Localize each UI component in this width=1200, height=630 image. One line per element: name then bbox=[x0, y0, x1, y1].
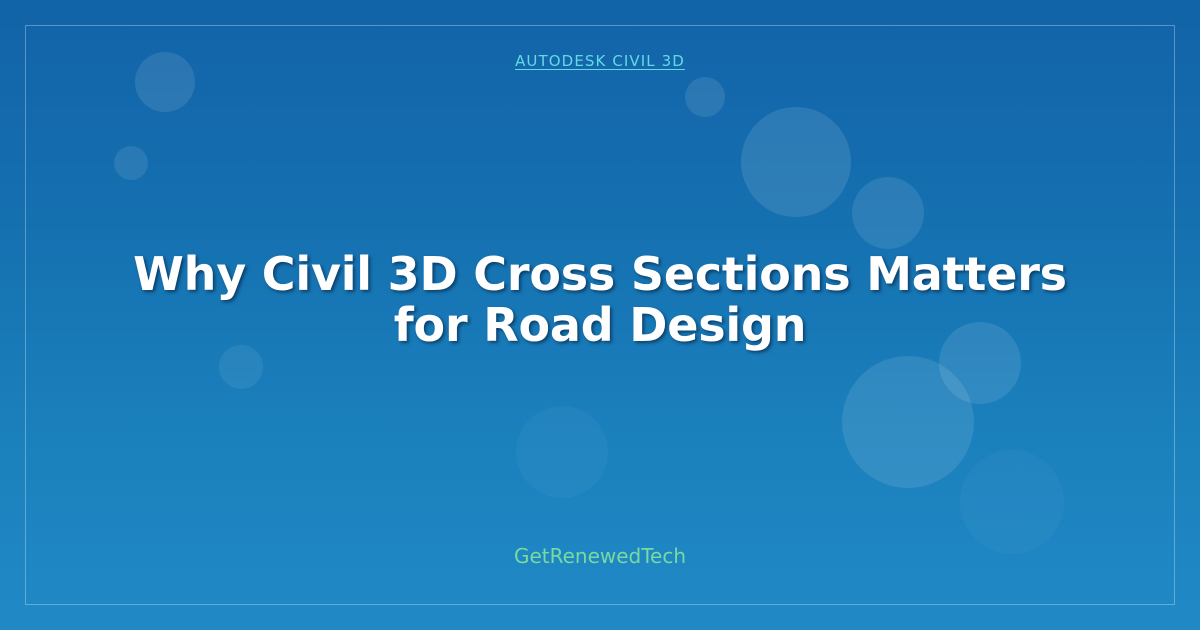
brand-name: GetRenewedTech bbox=[514, 544, 686, 568]
page-title: Why Civil 3D Cross Sections Matters for … bbox=[95, 249, 1105, 350]
cover-canvas: AUTODESK CIVIL 3D Why Civil 3D Cross Sec… bbox=[0, 0, 1200, 630]
title-container: Why Civil 3D Cross Sections Matters for … bbox=[95, 56, 1105, 544]
cover-content: AUTODESK CIVIL 3D Why Civil 3D Cross Sec… bbox=[0, 0, 1200, 630]
